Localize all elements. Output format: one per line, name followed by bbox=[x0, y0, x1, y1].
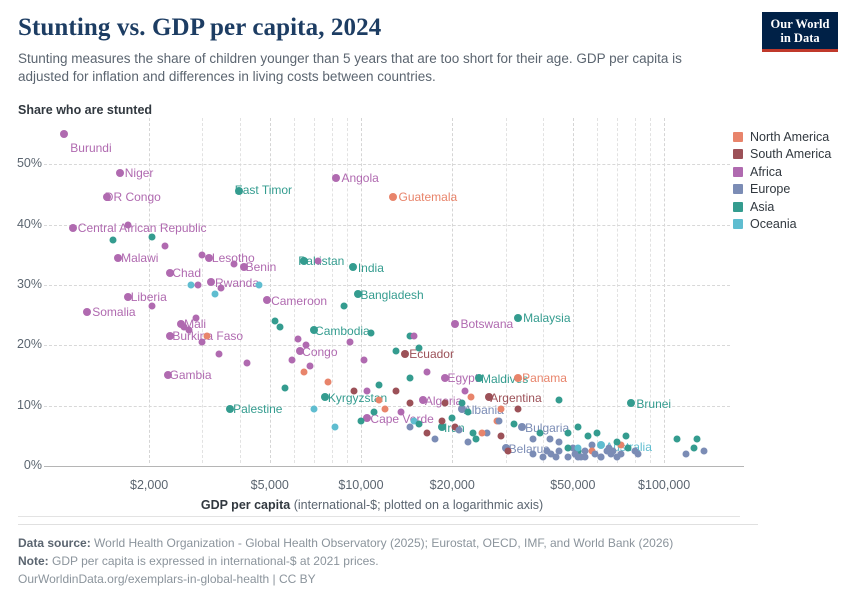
data-point[interactable] bbox=[627, 399, 635, 407]
data-point[interactable] bbox=[514, 374, 522, 382]
data-point[interactable] bbox=[415, 420, 422, 427]
data-point[interactable] bbox=[495, 417, 502, 424]
data-point-label: Argentina bbox=[490, 392, 541, 404]
data-point[interactable] bbox=[370, 408, 377, 415]
legend-item-label: Oceania bbox=[750, 217, 797, 231]
legend-item-europe[interactable]: Europe bbox=[733, 183, 831, 196]
x-axis-tick-label: $10,000 bbox=[338, 478, 383, 492]
data-point[interactable] bbox=[556, 396, 563, 403]
data-point[interactable] bbox=[530, 435, 537, 442]
data-point[interactable] bbox=[368, 330, 375, 337]
data-point[interactable] bbox=[69, 224, 77, 232]
data-point[interactable] bbox=[470, 429, 477, 436]
x-gridline-minor bbox=[617, 118, 618, 463]
x-axis-tick-label: $20,000 bbox=[430, 478, 475, 492]
data-point[interactable] bbox=[207, 278, 215, 286]
y-axis-tick-label: 30% bbox=[4, 277, 42, 291]
x-gridline-minor bbox=[332, 118, 333, 463]
data-point[interactable] bbox=[451, 320, 459, 328]
x-axis-tick-label: $100,000 bbox=[638, 478, 690, 492]
data-point[interactable] bbox=[431, 435, 438, 442]
data-point[interactable] bbox=[473, 435, 480, 442]
data-point[interactable] bbox=[195, 281, 202, 288]
y-axis-tick-label: 40% bbox=[4, 217, 42, 231]
data-point[interactable] bbox=[215, 351, 222, 358]
data-point[interactable] bbox=[397, 408, 404, 415]
data-point[interactable] bbox=[511, 420, 518, 427]
data-point[interactable] bbox=[161, 242, 168, 249]
x-gridline-major bbox=[452, 118, 453, 463]
data-point[interactable] bbox=[564, 444, 571, 451]
data-point[interactable] bbox=[610, 447, 617, 454]
data-point-label: DR Congo bbox=[105, 191, 161, 203]
x-gridline-minor bbox=[294, 118, 295, 463]
data-point[interactable] bbox=[540, 453, 547, 460]
y-gridline bbox=[44, 285, 730, 286]
data-point[interactable] bbox=[364, 387, 371, 394]
x-axis-tick-label: $5,000 bbox=[251, 478, 289, 492]
footer-license: OurWorldinData.org/exemplars-in-global-h… bbox=[18, 570, 758, 588]
data-point[interactable] bbox=[325, 378, 332, 385]
x-axis-title-main: GDP per capita bbox=[201, 498, 290, 512]
y-axis-tick-label: 50% bbox=[4, 156, 42, 170]
legend-item-south-america[interactable]: South America bbox=[733, 148, 831, 161]
footer-source-label: Data source: bbox=[18, 536, 91, 550]
data-point-label: Liberia bbox=[131, 291, 167, 303]
legend-item-label: North America bbox=[750, 130, 829, 144]
footer-divider bbox=[18, 516, 740, 517]
chart-header: Stunting vs. GDP per capita, 2024 Stunti… bbox=[18, 14, 738, 86]
data-point[interactable] bbox=[498, 432, 505, 439]
legend-swatch-icon bbox=[733, 149, 743, 159]
legend-item-label: Europe bbox=[750, 182, 790, 196]
data-point-label: Egypt bbox=[447, 372, 478, 384]
legend-swatch-icon bbox=[733, 184, 743, 194]
y-axis-title: Share who are stunted bbox=[18, 103, 152, 117]
data-point[interactable] bbox=[376, 396, 383, 403]
data-point[interactable] bbox=[537, 429, 544, 436]
data-point[interactable] bbox=[598, 453, 605, 460]
x-gridline-minor bbox=[650, 118, 651, 463]
data-point[interactable] bbox=[515, 405, 522, 412]
data-point[interactable] bbox=[230, 260, 237, 267]
data-point[interactable] bbox=[464, 438, 471, 445]
data-point[interactable] bbox=[553, 453, 560, 460]
data-point[interactable] bbox=[192, 315, 199, 322]
data-point-label: Burundi bbox=[70, 142, 111, 154]
data-point[interactable] bbox=[504, 447, 511, 454]
x-gridline-minor bbox=[347, 118, 348, 463]
data-point[interactable] bbox=[575, 423, 582, 430]
x-gridline-minor bbox=[635, 118, 636, 463]
data-point[interactable] bbox=[360, 357, 367, 364]
y-axis-tick-label: 20% bbox=[4, 337, 42, 351]
data-point[interactable] bbox=[199, 339, 206, 346]
legend[interactable]: North AmericaSouth AmericaAfricaEuropeAs… bbox=[733, 130, 831, 235]
footer-source-text: World Health Organization - Global Healt… bbox=[94, 536, 673, 550]
y-gridline bbox=[44, 164, 730, 165]
data-point-label: Angola bbox=[341, 172, 378, 184]
data-point[interactable] bbox=[349, 263, 357, 271]
data-point[interactable] bbox=[263, 296, 271, 304]
data-point-label: Gambia bbox=[170, 369, 212, 381]
data-point[interactable] bbox=[149, 233, 156, 240]
page-title: Stunting vs. GDP per capita, 2024 bbox=[18, 14, 738, 42]
data-point[interactable] bbox=[376, 381, 383, 388]
data-point[interactable] bbox=[449, 414, 456, 421]
x-gridline-minor bbox=[202, 118, 203, 463]
legend-swatch-icon bbox=[733, 219, 743, 229]
data-point[interactable] bbox=[438, 417, 445, 424]
data-point[interactable] bbox=[109, 236, 116, 243]
data-point[interactable] bbox=[584, 432, 591, 439]
data-point[interactable] bbox=[631, 447, 638, 454]
data-point-label: Brunei bbox=[636, 398, 671, 410]
data-point[interactable] bbox=[478, 429, 485, 436]
x-axis-title: GDP per capita (international-$; plotted… bbox=[0, 498, 744, 512]
legend-item-label: Asia bbox=[750, 200, 774, 214]
data-point[interactable] bbox=[514, 314, 522, 322]
data-point[interactable] bbox=[700, 447, 707, 454]
data-point[interactable] bbox=[392, 348, 399, 355]
data-point[interactable] bbox=[415, 345, 422, 352]
legend-item-asia[interactable]: Asia bbox=[733, 200, 831, 213]
data-point[interactable] bbox=[498, 405, 505, 412]
data-point[interactable] bbox=[423, 429, 430, 436]
data-point[interactable] bbox=[467, 393, 474, 400]
data-point[interactable] bbox=[624, 444, 631, 451]
data-point[interactable] bbox=[593, 429, 600, 436]
data-point-label: Benin bbox=[246, 261, 277, 273]
data-point[interactable] bbox=[411, 333, 418, 340]
data-point[interactable] bbox=[124, 221, 131, 228]
data-point[interactable] bbox=[401, 350, 409, 358]
legend-item-label: Africa bbox=[750, 165, 782, 179]
data-point[interactable] bbox=[464, 408, 471, 415]
data-point[interactable] bbox=[564, 453, 571, 460]
data-point[interactable] bbox=[188, 281, 195, 288]
data-point[interactable] bbox=[442, 399, 449, 406]
legend-swatch-icon bbox=[733, 132, 743, 142]
x-axis-tick-label: $50,000 bbox=[550, 478, 595, 492]
x-gridline-major bbox=[664, 118, 665, 463]
x-gridline-major bbox=[573, 118, 574, 463]
owid-logo[interactable]: Our World in Data bbox=[762, 12, 838, 52]
x-gridline-minor bbox=[597, 118, 598, 463]
chart-footer: Data source: World Health Organization -… bbox=[18, 524, 758, 588]
data-point[interactable] bbox=[83, 308, 91, 316]
y-axis-tick-label: 0% bbox=[4, 458, 42, 472]
data-point-label: Central African Republic bbox=[78, 222, 207, 234]
data-point[interactable] bbox=[458, 399, 465, 406]
data-point[interactable] bbox=[406, 399, 413, 406]
footer-note-row: Note: GDP per capita is expressed in int… bbox=[18, 552, 758, 570]
data-point[interactable] bbox=[564, 429, 571, 436]
data-point-label: Chad bbox=[172, 267, 201, 279]
data-point[interactable] bbox=[255, 281, 262, 288]
data-point[interactable] bbox=[461, 387, 468, 394]
data-point-label: Botswana bbox=[460, 318, 513, 330]
chart-subtitle: Stunting measures the share of children … bbox=[18, 50, 733, 86]
data-point[interactable] bbox=[288, 357, 295, 364]
data-point[interactable] bbox=[614, 438, 621, 445]
data-point-label: Cambodia bbox=[315, 325, 370, 337]
footer-note-text: GDP per capita is expressed in internati… bbox=[52, 554, 379, 568]
data-point-label: Cameroon bbox=[271, 295, 327, 307]
x-axis-tick-label: $2,000 bbox=[130, 478, 168, 492]
data-point[interactable] bbox=[406, 375, 413, 382]
data-point[interactable] bbox=[673, 435, 680, 442]
data-point[interactable] bbox=[276, 324, 283, 331]
data-point[interactable] bbox=[303, 342, 310, 349]
data-point-label: Malaysia bbox=[523, 312, 570, 324]
data-point[interactable] bbox=[295, 336, 302, 343]
data-point[interactable] bbox=[351, 387, 358, 394]
scatter-plot[interactable]: $2,000$5,000$10,000$20,000$50,000$100,00… bbox=[0, 118, 730, 473]
data-point[interactable] bbox=[281, 384, 288, 391]
legend-item-north-america[interactable]: North America bbox=[733, 130, 831, 143]
x-axis-title-note: (international-$; plotted on a logarithm… bbox=[294, 498, 543, 512]
footer-note-label: Note: bbox=[18, 554, 49, 568]
data-point[interactable] bbox=[212, 291, 219, 298]
data-point[interactable] bbox=[243, 360, 250, 367]
data-point[interactable] bbox=[389, 193, 397, 201]
data-point-label: Palestine bbox=[233, 403, 282, 415]
owid-logo-line2: in Data bbox=[762, 31, 838, 45]
data-point[interactable] bbox=[301, 369, 308, 376]
data-point[interactable] bbox=[455, 426, 462, 433]
data-point[interactable] bbox=[60, 130, 68, 138]
data-point[interactable] bbox=[582, 453, 589, 460]
data-point[interactable] bbox=[116, 169, 124, 177]
data-point[interactable] bbox=[623, 432, 630, 439]
data-point[interactable] bbox=[203, 333, 210, 340]
data-point[interactable] bbox=[341, 303, 348, 310]
data-point[interactable] bbox=[149, 303, 156, 310]
data-point-label: Guatemala bbox=[398, 191, 457, 203]
data-point[interactable] bbox=[690, 444, 697, 451]
legend-swatch-icon bbox=[733, 167, 743, 177]
data-point-label: Bulgaria bbox=[525, 422, 569, 434]
data-point[interactable] bbox=[682, 450, 689, 457]
data-point[interactable] bbox=[332, 174, 340, 182]
data-point[interactable] bbox=[556, 438, 563, 445]
data-point[interactable] bbox=[314, 257, 321, 264]
data-point-label: Pakistan bbox=[298, 255, 344, 267]
y-gridline bbox=[44, 345, 730, 346]
data-point-label: Bangladesh bbox=[360, 289, 423, 301]
data-point[interactable] bbox=[406, 423, 413, 430]
data-point[interactable] bbox=[311, 405, 318, 412]
legend-item-oceania[interactable]: Oceania bbox=[733, 218, 831, 231]
data-point[interactable] bbox=[546, 435, 553, 442]
data-point[interactable] bbox=[423, 369, 430, 376]
data-point[interactable] bbox=[347, 339, 354, 346]
data-point[interactable] bbox=[575, 453, 582, 460]
x-axis-baseline bbox=[44, 466, 744, 467]
data-point-label: Niger bbox=[125, 167, 154, 179]
owid-logo-line1: Our World bbox=[762, 17, 838, 31]
data-point[interactable] bbox=[199, 251, 206, 258]
data-point[interactable] bbox=[180, 324, 187, 331]
data-point[interactable] bbox=[530, 450, 537, 457]
data-point[interactable] bbox=[392, 387, 399, 394]
data-point[interactable] bbox=[217, 284, 224, 291]
data-point-label: Malawi bbox=[121, 252, 158, 264]
legend-swatch-icon bbox=[733, 202, 743, 212]
legend-item-africa[interactable]: Africa bbox=[733, 165, 831, 178]
data-point-label: Panama bbox=[522, 372, 567, 384]
data-point-label: East Timor bbox=[235, 184, 292, 196]
y-axis-tick-label: 10% bbox=[4, 398, 42, 412]
data-point[interactable] bbox=[331, 423, 338, 430]
data-point[interactable] bbox=[693, 435, 700, 442]
footer-source-row: Data source: World Health Organization -… bbox=[18, 534, 758, 552]
x-gridline-minor bbox=[543, 118, 544, 463]
data-point[interactable] bbox=[617, 450, 624, 457]
data-point-label: Somalia bbox=[92, 306, 135, 318]
legend-item-label: South America bbox=[750, 147, 831, 161]
data-point[interactable] bbox=[382, 405, 389, 412]
x-gridline-minor bbox=[506, 118, 507, 463]
data-point[interactable] bbox=[307, 363, 314, 370]
data-point-label: India bbox=[358, 262, 384, 274]
data-point[interactable] bbox=[357, 417, 364, 424]
